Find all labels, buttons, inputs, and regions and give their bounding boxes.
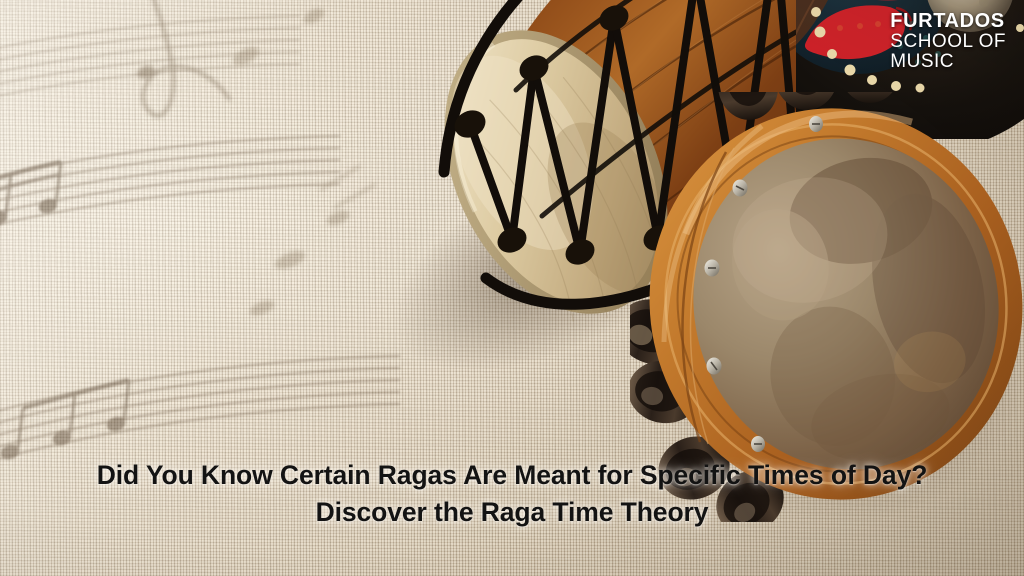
logo-line-furtados: FURTADOS [890,11,1006,32]
logo-line-school-of: SCHOOL OF [890,32,1006,52]
headline-line-1: Did You Know Certain Ragas Are Meant for… [22,457,1002,495]
headline: Did You Know Certain Ragas Are Meant for… [0,457,1024,532]
promo-banner: FURTADOS SCHOOL OF MUSIC Did You Know Ce… [0,0,1024,576]
logo-line-music: MUSIC [890,52,1006,72]
headline-line-2: Discover the Raga Time Theory [22,494,1002,532]
brand-logo[interactable]: FURTADOS SCHOOL OF MUSIC [890,11,1006,71]
